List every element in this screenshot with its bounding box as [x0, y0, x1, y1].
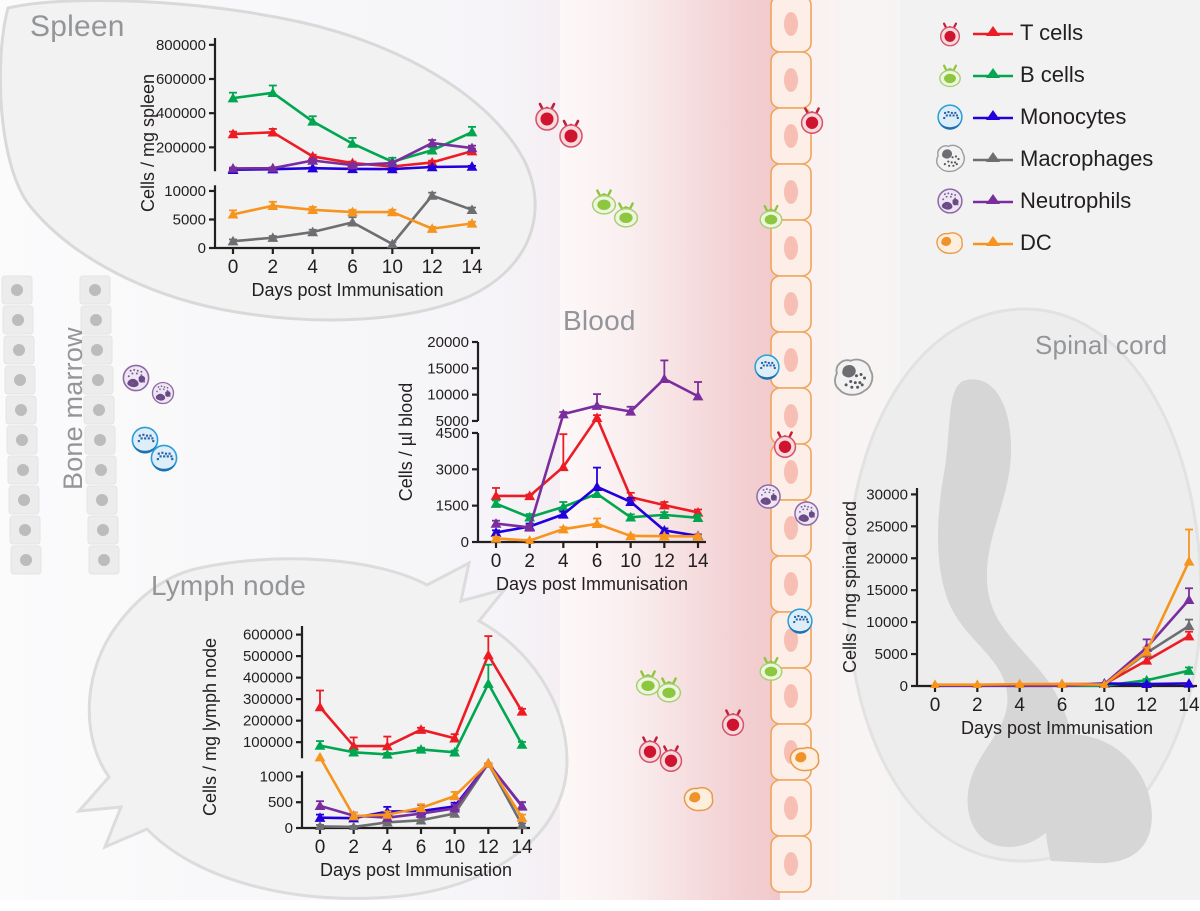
svg-text:15000: 15000: [427, 360, 469, 377]
dendritic-cell-icon: [930, 225, 970, 261]
svg-text:25000: 25000: [866, 518, 908, 535]
plot-spleen: 0500010000200000400000600000800000024610…: [120, 28, 490, 288]
svg-text:200000: 200000: [156, 139, 206, 156]
svg-text:0: 0: [900, 678, 908, 695]
spinal-cord-label: Spinal cord: [1035, 330, 1167, 361]
svg-text:10: 10: [444, 837, 465, 858]
t-cell-icon: [793, 100, 831, 143]
svg-text:800000: 800000: [156, 37, 206, 54]
dendritic-cell-icon: [680, 780, 718, 823]
macrophage-icon: [830, 355, 876, 406]
t-cell-icon: [930, 15, 970, 51]
legend-item-t-cells[interactable]: T cells: [930, 12, 1195, 54]
svg-text:1000: 1000: [260, 768, 293, 785]
data-point: [1184, 556, 1195, 566]
monocyte-icon: [146, 440, 182, 481]
svg-text:0: 0: [491, 551, 502, 572]
b-cell-icon: [930, 57, 970, 93]
svg-text:6: 6: [592, 551, 603, 572]
series-line-b-cells: [233, 93, 472, 162]
data-point: [347, 138, 358, 148]
figure-canvas: Spleen Bone marrow Blood Lymph node Spin…: [0, 0, 1200, 900]
legend: T cellsB cellsMonocytesMacrophagesNeutro…: [930, 12, 1195, 264]
macrophage-icon: [930, 141, 970, 177]
svg-text:3000: 3000: [436, 461, 469, 478]
series-line-dc: [935, 561, 1189, 684]
t-cell-icon: [551, 112, 591, 157]
x-axis-title: Days post Immunisation: [478, 574, 706, 595]
svg-text:6: 6: [347, 257, 358, 278]
svg-text:0: 0: [198, 240, 206, 257]
legend-item-dc[interactable]: DC: [930, 222, 1195, 264]
data-point: [1184, 621, 1195, 631]
legend-label: T cells: [1016, 20, 1083, 46]
svg-text:600000: 600000: [156, 71, 206, 88]
b-cell-icon: [753, 198, 789, 239]
data-point: [315, 702, 326, 712]
data-point: [659, 373, 670, 383]
neutrophil-icon: [148, 378, 178, 413]
svg-text:5000: 5000: [436, 413, 469, 430]
svg-text:6: 6: [1057, 695, 1068, 716]
svg-text:1500: 1500: [436, 498, 469, 515]
x-axis-title: Days post Immunisation: [215, 280, 480, 301]
x-axis-title: Days post Immunisation: [302, 860, 530, 881]
lymph-node-label: Lymph node: [151, 570, 306, 602]
y-axis-title: Cells / mg spleen: [138, 38, 159, 248]
y-axis-title: Cells / mg lymph node: [200, 626, 221, 828]
b-cell-icon: [650, 670, 688, 713]
svg-text:2: 2: [972, 695, 983, 716]
svg-text:14: 14: [461, 257, 483, 278]
legend-item-macrophages[interactable]: Macrophages: [930, 138, 1195, 180]
plot-blood: 0150030004500500010000150002000002461012…: [378, 332, 718, 582]
t-cell-icon: [766, 424, 804, 467]
svg-text:12: 12: [1136, 695, 1157, 716]
svg-text:0: 0: [461, 534, 469, 551]
legend-key-marker: [970, 233, 1016, 253]
svg-text:2: 2: [348, 837, 359, 858]
svg-text:10: 10: [382, 257, 403, 278]
legend-key-marker: [970, 107, 1016, 127]
svg-text:2: 2: [268, 257, 279, 278]
legend-label: Monocytes: [1016, 104, 1126, 130]
x-axis-title: Days post Immunisation: [917, 718, 1197, 739]
neutrophil-icon: [752, 480, 785, 518]
y-axis-title: Cells / µl blood: [396, 342, 417, 542]
svg-text:5000: 5000: [173, 211, 206, 228]
svg-text:12: 12: [478, 837, 499, 858]
svg-text:2: 2: [524, 551, 535, 572]
chart-spinal-cord: 0500010000150002000025000300000246101214…: [822, 478, 1200, 733]
data-point: [592, 481, 603, 491]
neutrophil-icon: [790, 497, 823, 535]
svg-text:0: 0: [315, 837, 326, 858]
svg-text:14: 14: [687, 551, 709, 572]
data-point: [483, 678, 494, 688]
svg-text:30000: 30000: [866, 486, 908, 503]
chart-lymph-node: 0500100010000020000030000040000050000060…: [182, 618, 542, 873]
plot-spinal_cord: 0500010000150002000025000300000246101214: [822, 478, 1200, 728]
monocyte-icon: [783, 604, 817, 643]
svg-text:4: 4: [1014, 695, 1025, 716]
svg-text:10000: 10000: [164, 183, 206, 200]
legend-item-monocytes[interactable]: Monocytes: [930, 96, 1195, 138]
svg-text:10000: 10000: [866, 614, 908, 631]
data-point: [416, 724, 427, 734]
legend-key-marker: [970, 149, 1016, 169]
data-point: [427, 190, 438, 200]
dendritic-cell-icon: [786, 740, 824, 783]
data-point: [517, 739, 528, 749]
svg-text:0: 0: [285, 820, 293, 837]
spleen-label: Spleen: [30, 10, 125, 44]
svg-text:0: 0: [228, 257, 239, 278]
y-axis-title: Cells / mg spinal cord: [840, 488, 861, 686]
plot-lymph_node: 0500100010000020000030000040000050000060…: [182, 618, 542, 868]
svg-text:400000: 400000: [156, 105, 206, 122]
b-cell-icon: [607, 195, 645, 238]
svg-text:12: 12: [654, 551, 675, 572]
svg-text:400000: 400000: [243, 670, 293, 687]
svg-text:20000: 20000: [427, 334, 469, 351]
legend-item-b-cells[interactable]: B cells: [930, 54, 1195, 96]
svg-text:10: 10: [620, 551, 641, 572]
svg-text:14: 14: [511, 837, 533, 858]
svg-text:5000: 5000: [875, 646, 908, 663]
legend-key-marker: [970, 65, 1016, 85]
t-cell-icon: [714, 702, 752, 745]
data-point: [315, 752, 326, 762]
svg-text:10000: 10000: [427, 387, 469, 404]
legend-label: Macrophages: [1016, 146, 1153, 172]
svg-text:6: 6: [416, 837, 427, 858]
svg-text:200000: 200000: [243, 713, 293, 730]
svg-text:0: 0: [930, 695, 941, 716]
chart-blood: 0150030004500500010000150002000002461012…: [378, 332, 718, 587]
svg-text:15000: 15000: [866, 582, 908, 599]
data-point: [467, 127, 478, 137]
svg-text:10: 10: [1094, 695, 1115, 716]
svg-text:4: 4: [307, 257, 318, 278]
data-point: [1184, 594, 1195, 604]
svg-text:100000: 100000: [243, 734, 293, 751]
svg-text:500000: 500000: [243, 648, 293, 665]
data-point: [483, 650, 494, 660]
svg-text:12: 12: [422, 257, 443, 278]
b-cell-icon: [753, 650, 789, 691]
data-point: [592, 412, 603, 422]
bone-marrow-label: Bone marrow: [58, 327, 89, 490]
svg-text:4: 4: [558, 551, 569, 572]
svg-text:14: 14: [1178, 695, 1200, 716]
monocyte-icon: [750, 350, 784, 389]
svg-text:20000: 20000: [866, 550, 908, 567]
svg-text:600000: 600000: [243, 627, 293, 644]
svg-text:500: 500: [268, 794, 293, 811]
t-cell-icon: [652, 738, 690, 781]
legend-label: DC: [1016, 230, 1052, 256]
data-point: [347, 217, 358, 227]
legend-key-marker: [970, 23, 1016, 43]
legend-label: B cells: [1016, 62, 1085, 88]
svg-text:4: 4: [382, 837, 393, 858]
legend-item-neutrophils[interactable]: Neutrophils: [930, 180, 1195, 222]
legend-key-marker: [970, 191, 1016, 211]
neutrophil-icon: [930, 183, 970, 219]
monocyte-icon: [930, 99, 970, 135]
chart-spleen: 0500010000200000400000600000800000024610…: [120, 28, 490, 293]
svg-text:300000: 300000: [243, 691, 293, 708]
legend-label: Neutrophils: [1016, 188, 1131, 214]
